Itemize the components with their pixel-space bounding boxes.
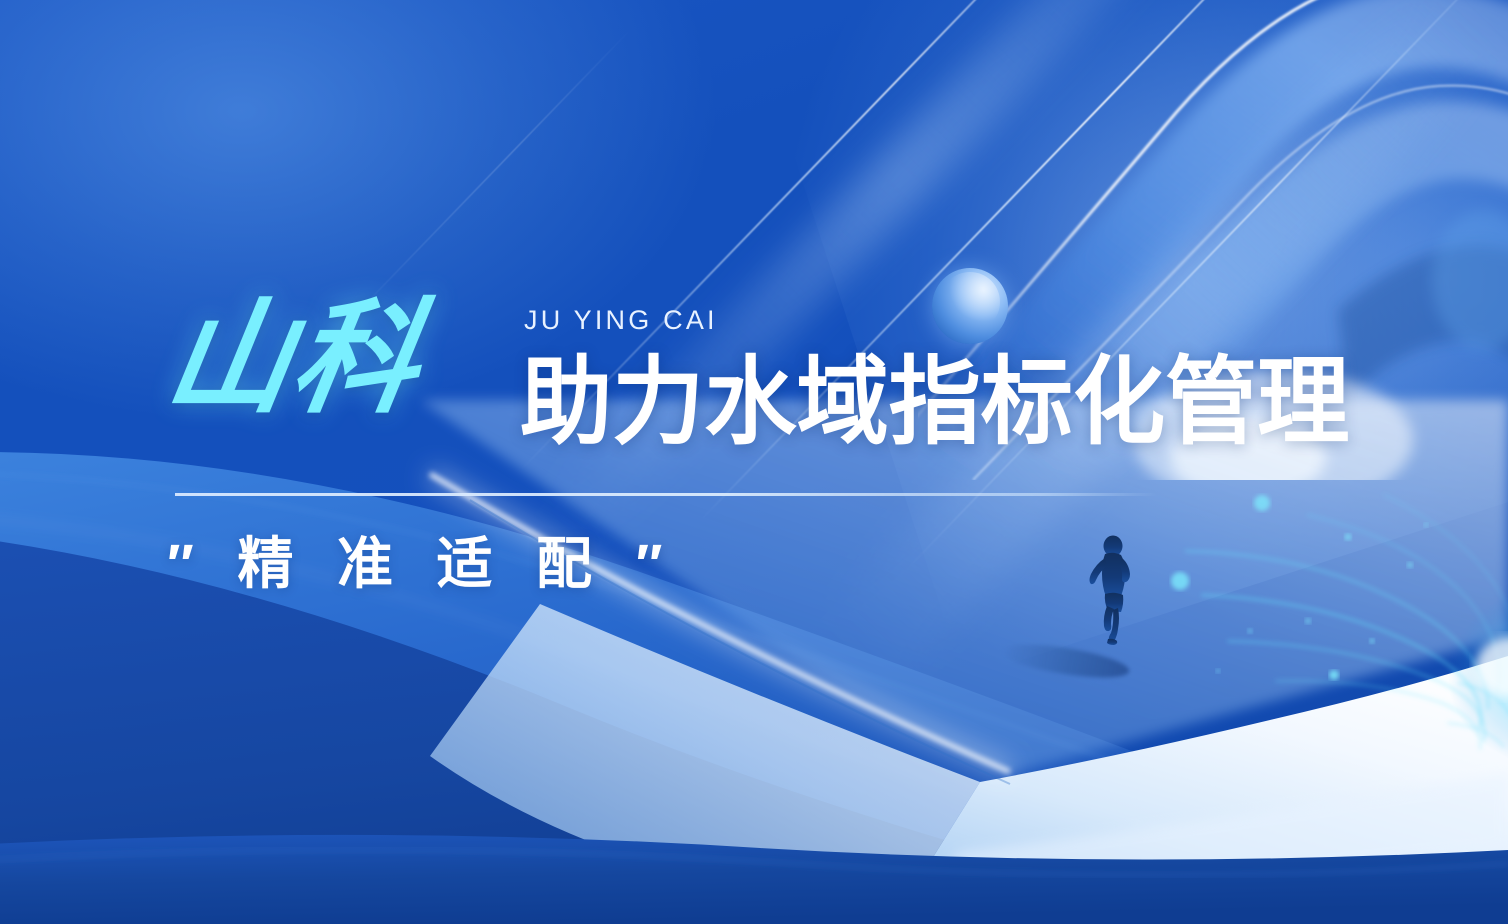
- brand-wordmark: 山科: [158, 297, 430, 421]
- headline-text: 助力水域指标化管理: [520, 352, 1349, 454]
- divider-line: [175, 493, 1157, 496]
- banner-text-block: 山科 JU YING CAI 助力水域指标化管理 ″ 精 准 适 配 ″: [0, 0, 1508, 924]
- tagline-text: ″ 精 准 适 配 ″: [167, 536, 676, 592]
- brand-pinyin: JU YING CAI: [524, 305, 718, 336]
- promotional-banner: 山科 JU YING CAI 助力水域指标化管理 ″ 精 准 适 配 ″: [0, 0, 1508, 924]
